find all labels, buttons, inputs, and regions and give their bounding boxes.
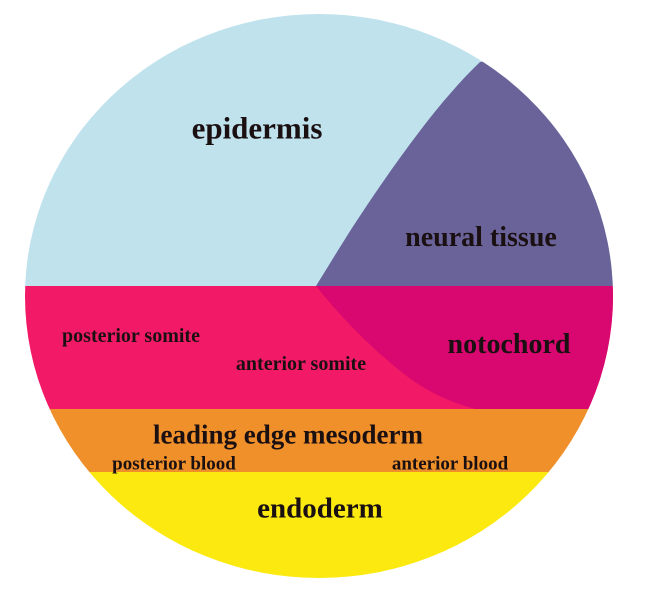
- region-label-endoderm: endoderm: [257, 495, 383, 524]
- region-label-notochord: notochord: [448, 331, 571, 359]
- region-label-posterior-blood: posterior blood: [112, 455, 236, 474]
- region-label-neural-tissue: neural tissue: [405, 224, 557, 252]
- region-label-leading-edge-mesoderm: leading edge mesoderm: [153, 422, 423, 449]
- region-label-epidermis: epidermis: [192, 113, 323, 144]
- region-label-anterior-somite: anterior somite: [236, 354, 366, 374]
- region-label-posterior-somite: posterior somite: [62, 326, 200, 346]
- fate-map-figure: epidermis neural tissue posterior somite…: [0, 0, 646, 609]
- region-label-anterior-blood: anterior blood: [392, 455, 508, 474]
